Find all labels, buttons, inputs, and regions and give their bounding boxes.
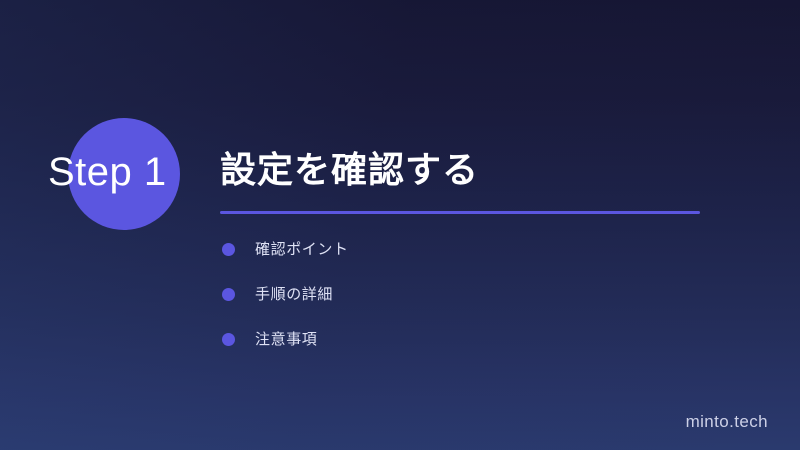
bullet-dot-icon: [222, 288, 235, 301]
brand-watermark: minto.tech: [686, 413, 768, 430]
title-divider-rule: [220, 211, 700, 214]
slide-title: 設定を確認する: [220, 150, 479, 190]
bullet-list: 確認ポイント 手順の詳細 注意事項: [222, 239, 349, 349]
bullet-item-label: 手順の詳細: [255, 287, 333, 302]
bullet-item-label: 注意事項: [255, 332, 317, 347]
presentation-slide: Step 1 設定を確認する 確認ポイント 手順の詳細 注意事項 minto.t…: [0, 0, 800, 450]
bullet-dot-icon: [222, 243, 235, 256]
list-item: 注意事項: [222, 329, 349, 349]
bullet-dot-icon: [222, 333, 235, 346]
list-item: 確認ポイント: [222, 239, 349, 259]
step-badge-label: Step 1: [48, 152, 167, 192]
list-item: 手順の詳細: [222, 284, 349, 304]
bullet-item-label: 確認ポイント: [255, 242, 349, 257]
